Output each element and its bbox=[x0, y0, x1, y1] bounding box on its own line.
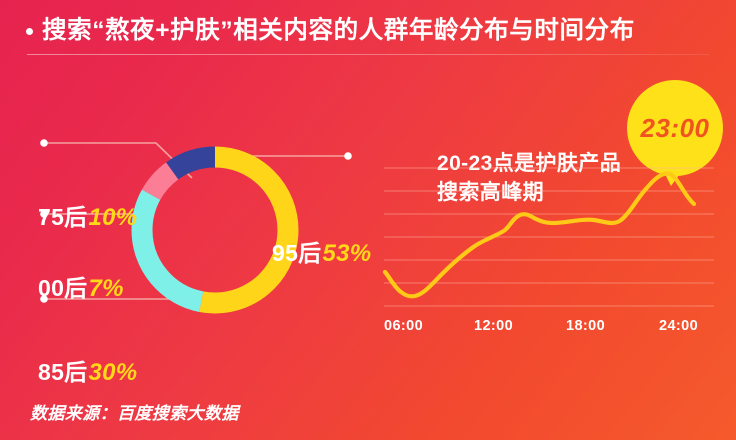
pie-label-00-name: 00后 bbox=[38, 275, 87, 301]
pie-label-85-name: 85后 bbox=[38, 359, 87, 385]
pie-label-00-value: 7% bbox=[88, 275, 123, 302]
pie-label-75: 75后10% bbox=[38, 206, 137, 230]
age-distribution-donut-chart: 75后10% 00后7% 85后30% 95后53% bbox=[0, 92, 380, 342]
x-tick-2: 18:00 bbox=[566, 318, 605, 334]
infographic-canvas: 搜索“熬夜+护肤”相关内容的人群年龄分布与时间分布 bbox=[0, 0, 736, 440]
data-source-note: 数据来源：百度搜索大数据 bbox=[30, 399, 239, 424]
pie-label-85: 85后30% bbox=[38, 361, 137, 385]
x-tick-0: 06:00 bbox=[384, 318, 423, 334]
header: 搜索“熬夜+护肤”相关内容的人群年龄分布与时间分布 bbox=[26, 16, 716, 55]
x-tick-3: 24:00 bbox=[659, 318, 698, 334]
peak-time-value: 23:00 bbox=[641, 113, 710, 144]
pie-label-95-name: 95后 bbox=[272, 240, 321, 266]
pie-label-75-name: 75后 bbox=[38, 204, 87, 230]
pie-label-00: 00后7% bbox=[38, 277, 124, 301]
time-series-line bbox=[385, 173, 694, 296]
pie-label-95: 95后53% bbox=[272, 242, 371, 266]
x-tick-1: 12:00 bbox=[474, 318, 513, 334]
donut-ring bbox=[142, 157, 288, 303]
title-row: 搜索“熬夜+护肤”相关内容的人群年龄分布与时间分布 bbox=[26, 16, 716, 45]
bullet-dot-icon bbox=[26, 28, 33, 35]
pie-label-75-value: 10% bbox=[88, 204, 137, 231]
leader-dot-95 bbox=[344, 152, 352, 160]
leader-dot-75 bbox=[40, 139, 48, 147]
page-title: 搜索“熬夜+护肤”相关内容的人群年龄分布与时间分布 bbox=[42, 16, 635, 45]
pie-label-85-value: 30% bbox=[88, 359, 137, 386]
line-chart-svg bbox=[382, 160, 722, 342]
title-divider bbox=[27, 54, 709, 55]
time-distribution-line-chart: 06:00 12:00 18:00 24:00 bbox=[382, 160, 722, 342]
pie-label-95-value: 53% bbox=[322, 240, 371, 267]
